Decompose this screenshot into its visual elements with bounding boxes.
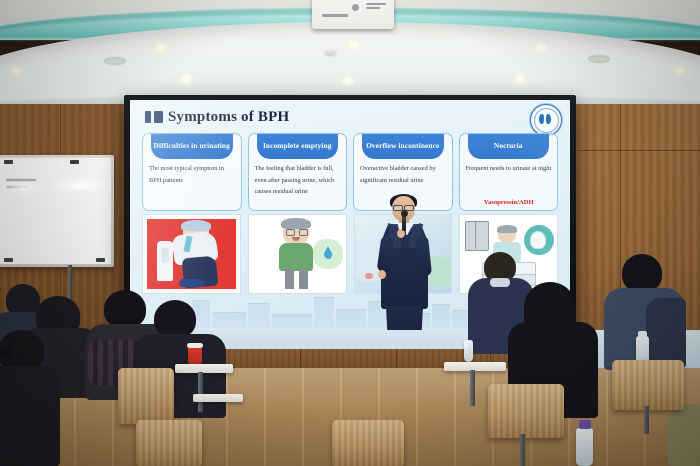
attendee-body <box>668 404 700 466</box>
red-coffee-cup[interactable] <box>188 346 202 365</box>
bottle-cap <box>638 331 647 337</box>
whiteboard-clip <box>70 160 79 164</box>
projector-vent <box>366 3 386 5</box>
card-body-text: The feeling that bladder is full, even a… <box>255 163 342 198</box>
downlight-icon <box>8 66 24 76</box>
symptom-card-row: Difficulties in urinating The most typic… <box>142 133 558 211</box>
water-bottle[interactable] <box>576 428 593 466</box>
chair-back <box>488 384 564 438</box>
whiteboard-surface <box>0 158 111 264</box>
chair-back <box>332 420 404 466</box>
presenter-hand-clicker <box>378 270 386 279</box>
projector-lens <box>352 4 359 11</box>
downlight-icon <box>345 40 362 50</box>
whiteboard-glare <box>0 183 46 192</box>
water-bottle[interactable] <box>464 340 473 362</box>
card-heading-text: Nocturia <box>494 141 523 151</box>
desk-surface <box>193 394 243 402</box>
desk-leg <box>470 370 475 406</box>
title-marker-bar <box>145 111 151 123</box>
whiteboard-glare <box>46 181 110 190</box>
title-marker-bar <box>154 111 163 123</box>
building-shape <box>212 312 246 328</box>
card-header: Overflow incontinence <box>362 133 444 159</box>
logo-kidney-right <box>546 114 551 124</box>
desk-surface <box>444 362 506 371</box>
desk-leg <box>198 372 203 412</box>
lecture-hall-photo: Symptoms of BPH Difficulties in urinatin… <box>0 0 700 466</box>
chair-leg <box>520 434 525 466</box>
card-heading-text: Incomplete emptying <box>263 141 332 151</box>
building-shape <box>336 309 366 328</box>
chair-back <box>136 420 202 466</box>
card-body-text: The most typical symptom in BPH patients <box>149 163 236 186</box>
card-header: Incomplete emptying <box>257 133 339 159</box>
downlight-icon <box>512 74 528 84</box>
coffee-cup-lid <box>187 343 203 348</box>
chair-back <box>612 360 684 410</box>
whiteboard-clip <box>4 258 13 262</box>
symptom-card: Nocturia Frequent needs to urinate at ni… <box>459 133 559 211</box>
downlight-icon <box>533 43 550 53</box>
card-heading-text: Overflow incontinence <box>366 141 439 151</box>
card-body-text: Frequent needs to urinate at night <box>466 163 553 175</box>
attendee-body <box>0 366 60 466</box>
downlight-icon <box>672 66 688 76</box>
symptom-card: Difficulties in urinating The most typic… <box>142 133 242 211</box>
ceiling-vent <box>588 55 610 63</box>
chair-leg <box>644 406 649 434</box>
building-shape <box>272 314 312 328</box>
attendee-head <box>104 290 146 328</box>
logo-kidney-left <box>539 114 544 124</box>
building-shape <box>248 303 270 328</box>
downlight-icon <box>340 76 356 86</box>
logo-kidney-mark <box>539 114 552 125</box>
page-title: Symptoms of BPH <box>168 109 289 126</box>
symptom-card: Incomplete emptying The feeling that bla… <box>248 133 348 211</box>
presenter-arm-right <box>415 235 432 276</box>
projector-vent <box>366 7 380 9</box>
downlight-icon <box>152 43 170 53</box>
smoke-detector-icon <box>325 48 336 55</box>
university-seal-logo <box>530 104 562 136</box>
chair-back <box>118 368 174 424</box>
microphone-head-icon <box>401 210 408 217</box>
ceiling-vent <box>104 57 126 65</box>
whiteboard-clip <box>96 258 105 262</box>
whiteboard-on-stand <box>0 155 114 267</box>
downlight-icon <box>178 74 195 84</box>
desk-surface <box>175 364 233 373</box>
attendee-cap-brim <box>0 348 12 357</box>
whiteboard-handwriting <box>6 179 36 181</box>
card-header: Nocturia <box>468 133 550 159</box>
projector-label <box>322 14 348 17</box>
card-note-text: Vasopressin/ADH <box>466 199 553 206</box>
card-body-text: Overactive bladder caused by significant… <box>360 163 447 186</box>
attendee-head <box>622 254 662 292</box>
bottle-cap <box>579 420 591 429</box>
attendee-collar <box>490 278 510 287</box>
card-header: Difficulties in urinating <box>151 133 233 159</box>
whiteboard-clip <box>4 160 13 164</box>
wall-seam <box>578 150 700 151</box>
card-heading-text: Difficulties in urinating <box>154 141 230 151</box>
building-shape <box>314 297 334 328</box>
attendee-head <box>154 300 196 338</box>
attendee-jacket-shadow <box>646 298 686 368</box>
